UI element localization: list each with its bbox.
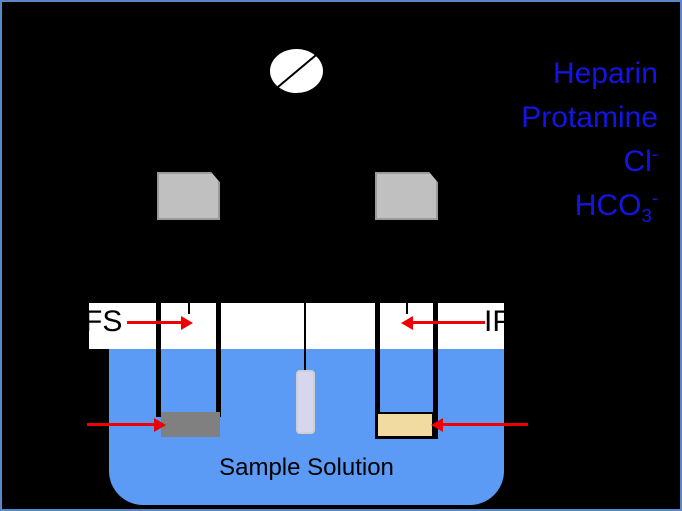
ip-sensing-membrane xyxy=(376,412,434,438)
arrowhead-icon xyxy=(154,418,166,432)
ip-electrode-label: IP xyxy=(484,305,504,339)
analyte-bicarbonate-count: 3 xyxy=(641,205,651,226)
fs-electrode-label: FS xyxy=(89,305,122,339)
arrowhead-icon xyxy=(401,316,413,330)
right-electrode-stub xyxy=(406,302,408,314)
analyte-chloride-text: Cl xyxy=(623,145,651,178)
analyte-protamine: Protamine xyxy=(358,96,658,140)
right-amplifier-box xyxy=(375,172,438,220)
potentiometer-icon xyxy=(270,49,323,93)
left-electrode-wall-inner xyxy=(216,302,221,417)
arrow-bottom-right xyxy=(442,423,528,426)
arrow-top-left xyxy=(127,321,182,324)
fs-sensing-membrane xyxy=(161,412,220,437)
left-amplifier-box xyxy=(157,172,220,220)
reference-electrode-wire xyxy=(304,302,306,374)
arrowhead-icon xyxy=(181,316,193,330)
analyte-heparin: Heparin xyxy=(358,52,658,96)
sample-solution-label: Sample Solution xyxy=(109,454,504,482)
meter-slash-icon xyxy=(274,52,318,90)
arrow-bottom-left xyxy=(87,423,155,426)
diagram-canvas: Heparin Protamine Cl- HCO3- FS IP Sample… xyxy=(0,0,682,511)
arrow-top-right xyxy=(412,321,485,324)
arrowhead-icon xyxy=(431,418,443,432)
left-electrode-stub xyxy=(188,302,190,314)
air-band-label-clip: FS IP xyxy=(89,303,504,349)
analyte-bicarbonate-text: HCO xyxy=(575,189,642,222)
analyte-chloride-charge: - xyxy=(652,143,658,164)
left-electrode-wall-outer xyxy=(156,302,161,417)
reference-electrode-body xyxy=(296,370,315,434)
analyte-bicarbonate-charge: - xyxy=(652,187,658,208)
